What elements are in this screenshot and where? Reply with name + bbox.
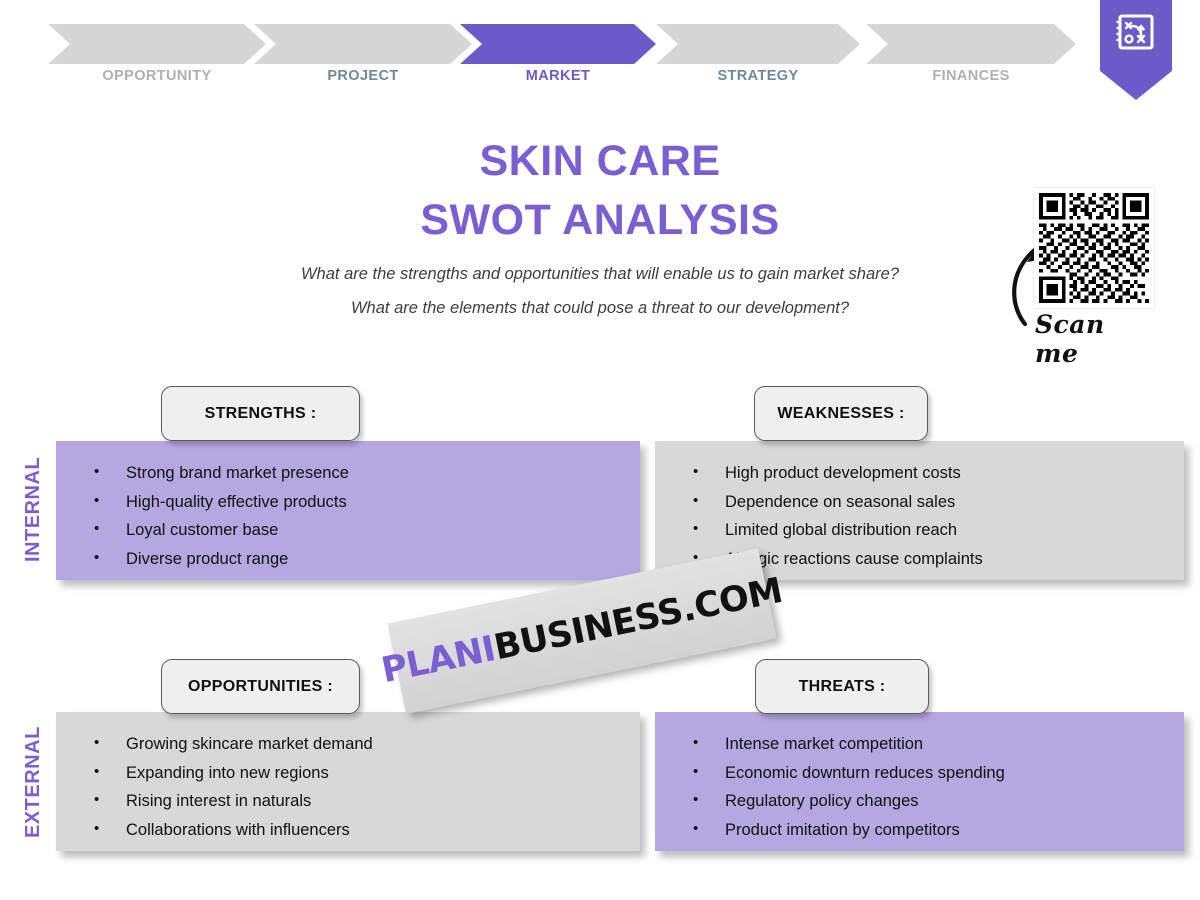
strategy-board-icon [1114,10,1158,54]
nav-step-label: PROJECT [254,68,472,84]
list-item: Economic downturn reduces spending [679,759,1162,788]
list-item: Rising interest in naturals [80,787,618,816]
nav-step-label: STRATEGY [656,68,860,84]
list-item: Collaborations with influencers [80,816,618,845]
list-item: High-quality effective products [80,488,618,517]
watermark-domain: BUSINESS.COM [491,571,786,669]
axis-label-internal: INTERNAL [22,444,45,574]
list-item: Limited global distribution reach [679,516,1162,545]
opportunities-body: Growing skincare market demand Expanding… [56,712,640,851]
qr-code-icon [1039,193,1149,303]
list-item: Intense market competition [679,730,1162,759]
chevron-shape [254,24,472,64]
threats-body: Intense market competition Economic down… [655,712,1184,851]
subtitle: What are the strengths and opportunities… [170,258,1030,326]
chevron-shape [48,24,266,64]
chevron-shape [866,24,1076,64]
nav-step-label: MARKET [460,68,656,84]
opportunities-heading[interactable]: OPPORTUNITIES : [161,659,360,714]
nav-step-finances[interactable]: FINANCES [866,24,1076,64]
list-item: Regulatory policy changes [679,787,1162,816]
strengths-heading[interactable]: STRENGTHS : [161,386,360,441]
threats-heading[interactable]: THREATS : [755,659,929,714]
list-item: Product imitation by competitors [679,816,1162,845]
nav-step-strategy[interactable]: STRATEGY [656,24,860,64]
nav-step-label: FINANCES [866,68,1076,84]
opportunities-list: Growing skincare market demand Expanding… [80,730,618,844]
threats-list: Intense market competition Economic down… [679,730,1162,844]
list-item: Expanding into new regions [80,759,618,788]
chevron-shape [656,24,860,64]
list-item: Diverse product range [80,545,618,574]
nav-step-market[interactable]: MARKET [460,24,656,64]
scan-me-caption: Scan me [1035,310,1157,368]
qr-code[interactable] [1034,188,1154,308]
nav-step-label: OPPORTUNITY [48,68,266,84]
list-item: High product development costs [679,459,1162,488]
subtitle-line-1: What are the strengths and opportunities… [170,258,1030,292]
nav-step-project[interactable]: PROJECT [254,24,472,64]
watermark-brand: PLANI [378,629,499,691]
list-item: Dependence on seasonal sales [679,488,1162,517]
list-item: Growing skincare market demand [80,730,618,759]
progress-nav: OPPORTUNITY PROJECT MARKET STRATEGY FINA… [0,0,1200,100]
strengths-body: Strong brand market presence High-qualit… [56,441,640,580]
watermark-text: PLANIBUSINESS.COM [378,571,786,691]
list-item: Strong brand market presence [80,459,618,488]
axis-label-external: EXTERNAL [22,712,45,852]
list-item: Loyal customer base [80,516,618,545]
chevron-shape [460,24,656,64]
qr-block: Scan me [1017,188,1157,358]
logo-ribbon [1100,0,1172,100]
weaknesses-heading[interactable]: WEAKNESSES : [754,386,928,441]
title-line-1: SKIN CARE [0,132,1200,191]
strengths-list: Strong brand market presence High-qualit… [80,459,618,573]
nav-step-opportunity[interactable]: OPPORTUNITY [48,24,266,64]
swot-slide: OPPORTUNITY PROJECT MARKET STRATEGY FINA… [0,0,1200,900]
subtitle-line-2: What are the elements that could pose a … [170,292,1030,326]
